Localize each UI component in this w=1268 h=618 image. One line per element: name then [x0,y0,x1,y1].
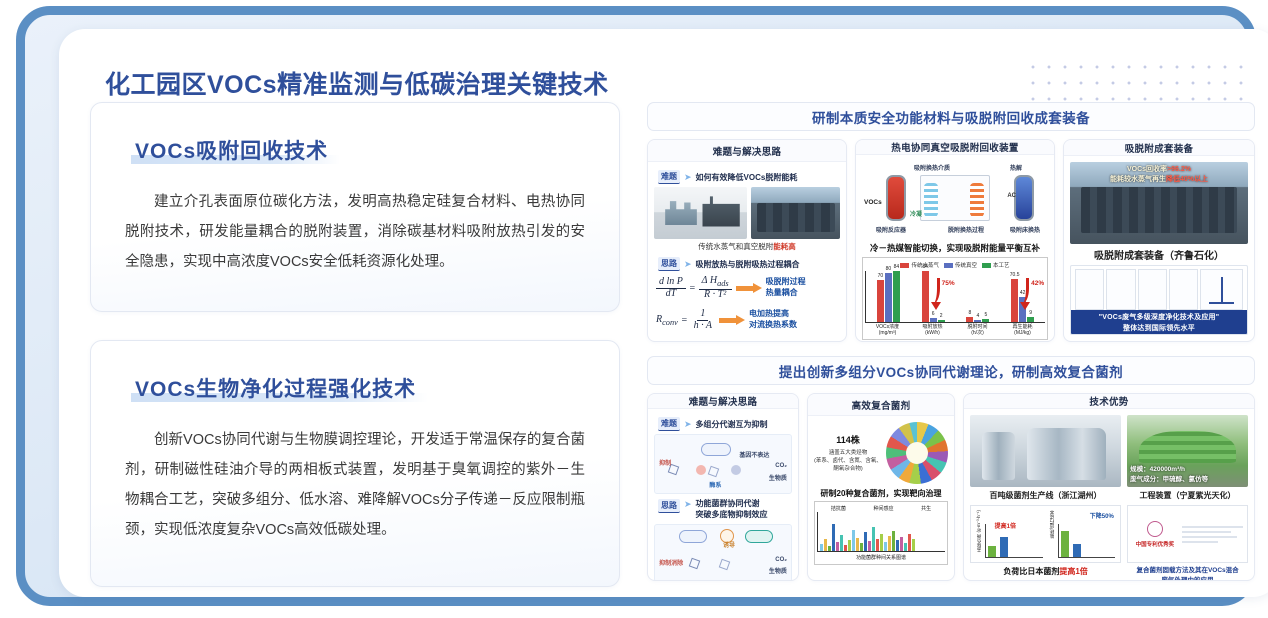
photo-caption: 工程装置（宁夏紫光天化） [1127,490,1248,501]
chart-plot-area [817,512,945,552]
left-column: VOCs吸附回收技术 建立介孔表面原位碳化方法，发明高热稳定硅复合材料、电热协同… [90,102,620,587]
bar [888,536,891,551]
panel-header: 吸脱附成套装备 [1064,140,1254,156]
bar [892,531,895,551]
bar-value-label: 70 [878,273,884,279]
figure-label: 生物质 [769,566,787,575]
panel-header: 难题与解决思路 [648,140,846,162]
caption-highlight: 提高1倍 [1059,567,1087,576]
chart-y-axis-label: 去除负荷 (g·m⁻³·h⁻¹) [976,510,982,552]
award-certificate-figure: "VOCs废气多级深度净化技术及应用" 整体达到国际领先水平 [1070,265,1248,335]
legend-item: 传统真空 [944,261,977,269]
chart-annotation: 42% [1031,280,1044,287]
photo-engineering-installation: 规模：420000m³/h 废气成分：甲硫醇、氯仿等 [1127,415,1248,487]
bar [880,534,883,551]
approach-row: 思路 ➤ 功能菌群协同代谢 突破多底物抑制效应 [658,499,792,521]
bar [856,538,859,551]
photo-production-line [970,415,1121,487]
bar: 84 [893,271,900,322]
approach-text: 吸附放热与脱附吸热过程耦合 [696,259,800,270]
x-axis-tick-label: 再生能耗 (MJ/kg) [1000,324,1045,337]
panel-header: 技术优势 [964,394,1254,409]
panel-complete-equipment-set: 吸脱附成套装备 VOCs回收率>96.2% 能耗较水蒸气再生降低40%以上 吸脱… [1063,139,1255,342]
approach-label: 思路 [658,499,680,513]
schematic-label: 吸附反应器 [876,225,906,234]
legend-item: 传统水蒸气 [900,261,939,269]
section-materials-equipment: 研制本质安全功能材料与吸脱附回收成套装备 难题与解决思路 难题 ➤ 如何有效降低… [647,102,1255,342]
approach-text: 功能菌群协同代谢 突破多底物抑制效应 [696,499,768,521]
photo-qilu-petrochemical-plant: VOCs回收率>96.2% 能耗较水蒸气再生降低40%以上 [1070,162,1248,244]
legend-swatch [982,263,991,268]
panel-body: 吸附换热介质 热解 VOCs 吸附反应器 冷凝 吸附床换热 [856,155,1054,342]
vocs-inlet-label: VOCs [864,199,882,206]
chart-x-axis-labels: VOCs浓度 (mg/m³)吸附放热 (kW/h)脱附时间 (h/次)再生能耗 … [865,324,1045,337]
panel-efficient-composite-agent: 高效复合菌剂 114株 涵盖五大类烃物 (苯系、卤代、含氮、含氧、酮氧杂合物) … [807,393,955,581]
bar: 70 [877,280,884,323]
chart-annotation: 下降50% [1090,511,1114,520]
problem-row: 难题 ➤ 多组分代谢互为抑制 [658,417,792,431]
chart-y-axis-label: 能耗/运行成本 [1049,510,1055,538]
species-relation-chart: 拮抗菌 种间感应 共生 功能菌群种间关系图谱 [814,501,948,565]
card-vocs-bio-purification: VOCs生物净化过程强化技术 创新VOCs协同代谢与生物膜调控理论，开发适于常温… [90,340,620,587]
bar-value-label: 80 [886,266,892,272]
approach-label: 思路 [658,257,680,271]
bar: 5 [982,319,989,322]
problem-text: 如何有效降低VOCs脱附能耗 [696,172,798,183]
overlay-text: 能耗较水蒸气再生 [1110,176,1166,183]
equals-sign: = [689,283,696,294]
formula-symbol: Rconv [656,314,678,327]
equals-sign: = [681,315,688,326]
panel-body: 百吨级菌剂生产线（浙江湖州） 规模：420000m³/h 废气成分：甲硫醇、氯仿… [964,409,1254,581]
certificate-page-main [1200,269,1243,310]
bar: 2 [938,320,945,322]
bar: 80 [885,273,892,322]
overlay-text: VOCs回收率 [1127,166,1167,173]
figure-label: 基因不表达 [739,450,769,459]
certificate-pages [1071,266,1247,310]
section-heading: 提出创新多组分VOCs协同代谢理论，研制高效复合菌剂 [647,356,1255,385]
schematic-label: 热解 [1010,163,1022,172]
bar-value-label: 84 [922,264,928,270]
legend-label: 传统真空 [955,261,977,269]
overlay-highlight: 降低40%以上 [1166,176,1208,183]
bar [872,527,875,551]
formula-note: 电加热提高 对流换热系数 [749,309,797,331]
photo-caption: 传统水蒸气和真空脱附能耗高 [654,241,840,252]
bar [860,543,863,551]
x-axis-tick-label: 吸附放热 (kW/h) [910,324,955,337]
x-axis-tick-label: 脱附时间 (h/次) [955,324,1000,337]
arrow-icon: ➤ [684,499,692,510]
problem-text: 多组分代谢互为抑制 [696,419,768,430]
figure-label: 抑制 [659,458,671,467]
group-label: 共生 [921,505,931,512]
approach-row: 思路 ➤ 吸附放热与脱附吸热过程耦合 [658,257,840,271]
schematic-label: 脱附换热过程 [948,225,984,234]
bar [988,546,996,557]
panel-header: 热电协同真空吸脱附回收装置 [856,140,1054,155]
formula-row-1: d ln P dT = Δ Hads R · T² [654,276,840,300]
legend-item: 本工艺 [982,261,1010,269]
clausius-clapeyron-formula: d ln P dT = Δ Hads R · T² [656,276,732,300]
certificate-page [1075,269,1104,310]
caption-text: 传统水蒸气和真空脱附 [698,242,773,251]
certificate-page [1106,269,1135,310]
desorption-reactor-cold [1014,175,1034,221]
group-label: 拮抗菌 [831,505,846,512]
bar [904,543,907,551]
certificate-page [1169,269,1198,310]
bar-value-label: 5 [984,312,987,318]
strain-description: 涵盖五大类烃物 (苯系、卤代、含氮、含氧、酮氧杂合物) [814,449,882,474]
agent-caption: 研制20种复合菌剂，实现靶向治理 [814,488,948,499]
formula-numerator: Δ Hads [699,276,732,290]
bar [844,545,847,551]
problem-label: 难题 [658,170,680,184]
orange-arrow-icon [736,284,762,293]
heat-exchange-schematic: 吸附换热介质 热解 VOCs 吸附反应器 冷凝 吸附床换热 [862,163,1048,241]
figure-label: 诱导 [723,540,735,549]
hot-coil-icon [970,183,984,217]
photo-traditional-steam-plant [654,187,747,239]
right-column: 研制本质安全功能材料与吸脱附回收成套装备 难题与解决思路 难题 ➤ 如何有效降低… [647,102,1255,595]
results-row: 去除负荷 (g·m⁻³·h⁻¹) 提高1倍 [970,505,1248,581]
bar [1073,544,1081,557]
certificate-page [1138,269,1167,310]
red-arrow-icon [1017,278,1029,304]
bar [912,539,915,551]
patent-certificate-figure: 中国专利优秀奖 [1127,505,1248,563]
page-title: 化工园区VOCs精准监测与低碳治理关键技术 [105,65,609,101]
arrow-icon: ➤ [684,259,692,270]
bar [868,541,871,551]
molecule-icon [708,466,720,478]
bar [884,542,887,551]
outer-frame: 化工园区VOCs精准监测与低碳治理关键技术 VOCs吸附回收技术 建立介孔表面原… [16,6,1256,606]
chart-bar-group: 845 [966,271,989,322]
card-title: VOCs吸附回收技术 [135,135,328,165]
bar-value-label: 9 [1029,310,1032,316]
bar [852,530,855,551]
bar [820,544,823,551]
strain-summary: 114株 涵盖五大类烃物 (苯系、卤代、含氮、含氧、酮氧杂合物) [814,422,948,484]
schematic-label: 吸附换热介质 [914,163,950,172]
bar-value-label: 6 [932,311,935,317]
panel-header: 难题与解决思路 [648,394,798,409]
figure-synergistic-metabolism: 诱导 抑制消除 CO₂ 生物质 [654,524,792,581]
bar-value-label: 4 [976,313,979,319]
chart-group-labels: 拮抗菌 种间感应 共生 [817,505,945,512]
panel-bio-problem-and-approach: 难题与解决思路 难题 ➤ 多组分代谢互为抑制 [647,393,799,581]
panel-body: 难题 ➤ 如何有效降低VOCs脱附能耗 传统水蒸气和真空脱附能耗高 [648,162,846,341]
patent-title-line: 废气外理中的应用 [1127,576,1248,581]
patent-seal-icon [1147,521,1163,537]
molecule-icon [689,558,701,570]
bar [876,539,879,551]
caption-highlight: 能耗高 [773,242,796,251]
legend-label: 本工艺 [993,261,1010,269]
section-heading: 研制本质安全功能材料与吸脱附回收成套装备 [647,102,1255,131]
panel-body: 114株 涵盖五大类烃物 (苯系、卤代、含氮、含氧、酮氧杂合物) 研制20种复合… [808,416,954,580]
overlay-text: 废气成分：甲硫醇、氯仿等 [1130,475,1245,484]
group-label: 种间感应 [873,505,893,512]
section-panels: 难题与解决思路 难题 ➤ 如何有效降低VOCs脱附能耗 [647,139,1255,342]
formula-row-2: Rconv = 1 h · A 电加热提高 对流换热系数 [654,309,840,331]
ac-power-label: AC [1007,193,1016,199]
chart-title: 功能菌群种间关系图谱 [817,554,945,561]
bar [828,546,831,551]
chart-bar-group: 70.542942% [1011,271,1034,322]
photo-overlay-caption: VOCs回收率>96.2% 能耗较水蒸气再生降低40%以上 [1070,165,1248,185]
formula-denominator: R · T² [701,290,729,301]
formula-numerator: 1 [697,309,708,321]
section-panels: 难题与解决思路 难题 ➤ 多组分代谢互为抑制 [647,393,1255,581]
card-vocs-adsorption-recovery: VOCs吸附回收技术 建立介孔表面原位碳化方法，发明高热稳定硅复合材料、电热协同… [90,102,620,312]
bar [1061,531,1069,557]
chart-legend: 传统水蒸气 传统真空 本工艺 [865,261,1045,269]
formula-denominator: dT [663,289,680,300]
slide-canvas: 化工园区VOCs精准监测与低碳治理关键技术 VOCs吸附回收技术 建立介孔表面原… [59,29,1268,597]
cold-coil-icon [924,183,938,217]
results-caption: 负荷比日本菌剂提高1倍 [970,566,1121,577]
arrow-icon: ➤ [684,419,692,430]
figure-label: 生物质 [769,473,787,482]
molecule-icon [719,559,731,571]
figure-metabolic-inhibition: 抑制 基因不表达 CO₂ 生物质 酶系 [654,434,792,494]
bar [900,537,903,551]
overlay-text: 规模：420000m³/h [1130,465,1245,474]
bar [824,539,827,551]
figure-label: CO₂ [775,557,787,563]
legend-swatch [900,263,909,268]
bar [864,532,867,551]
bar-value-label: 2 [940,313,943,319]
panel-problem-and-approach: 难题与解决思路 难题 ➤ 如何有效降低VOCs脱附能耗 [647,139,847,342]
red-arrow-icon [928,278,940,304]
formula-numerator: d ln P [656,277,686,289]
patent-badge: 中国专利优秀奖 [1136,540,1175,548]
bar [908,534,911,551]
chart-plot-area: 708084846275%84570.542942% [865,271,1045,323]
caption-text: 负荷比日本菌剂 [1003,567,1059,576]
photo-row: 百吨级菌剂生产线（浙江湖州） 规模：420000m³/h 废气成分：甲硫醇、氯仿… [970,415,1248,501]
energy-balance-bar-chart: 传统水蒸气 传统真空 本工艺 708084846275%84570.542942… [862,257,1048,340]
enzyme-icon [696,465,706,475]
patent-title-line: 复合菌剂固载方法及其在VOCs混合 [1127,566,1248,576]
section-bio-agents: 提出创新多组分VOCs协同代谢理论，研制高效复合菌剂 难题与解决思路 难题 ➤ … [647,356,1255,581]
schematic-label: 冷凝 [910,209,922,218]
panel-header: 高效复合菌剂 [808,394,954,416]
x-axis-tick-label: VOCs浓度 (mg/m³) [865,324,910,337]
photo-caption: 百吨级菌剂生产线（浙江湖州） [970,490,1121,501]
problem-row: 难题 ➤ 如何有效降低VOCs脱附能耗 [658,170,840,184]
patent-caption: 复合菌剂固载方法及其在VOCs混合 废气外理中的应用 获2023中国专利优秀奖 [1127,566,1248,581]
photo-vacuum-desorption-unit [751,187,840,239]
card-body-text: 建立介孔表面原位碳化方法，发明高热稳定硅复合材料、电热协同脱附技术，研发能量耦合… [121,187,589,277]
bar [840,535,843,551]
panel-thermoelectric-vacuum-device: 热电协同真空吸脱附回收装置 吸附换热介质 热解 VOCs [855,139,1055,342]
bar [896,540,899,551]
chart-annotation: 75% [942,280,955,287]
bar: 9 [1027,317,1034,322]
photo-caption: 吸脱附成套装备（齐鲁石化） [1070,247,1248,262]
award-banner: "VOCs废气多级深度净化技术及应用" 整体达到国际领先水平 [1071,310,1247,335]
award-subtitle: 整体达到国际领先水平 [1073,324,1245,335]
bacterium-icon [745,530,773,543]
chart-bar-group: 708084 [877,271,900,322]
photo-overlay-caption: 规模：420000m³/h 废气成分：甲硫醇、氯仿等 [1130,465,1245,484]
bar: 6 [930,318,937,322]
panel-technical-advantages: 技术优势 百吨级菌剂生产线（浙江湖州） 规 [963,393,1255,581]
schematic-label: 吸附床换热 [1010,225,1040,234]
convective-resistance-formula: Rconv = 1 h · A [656,309,715,331]
equipment-photo-pair [654,187,840,239]
enzyme-icon [731,465,741,475]
bar: 8 [966,317,973,322]
formula-note: 吸脱附过程 热量耦合 [766,277,806,299]
figure-label: 抑制消除 [659,558,683,567]
award-title: "VOCs废气多级深度净化技术及应用" [1073,313,1245,324]
figure-label: CO₂ [775,463,787,469]
card-body-text: 创新VOCs协同代谢与生物膜调控理论，开发适于常温保存的复合菌剂，研制磁性硅油介… [121,425,589,545]
bar-value-label: 8 [968,310,971,316]
legend-swatch [944,263,953,268]
schematic-caption: 冷－热媒智能切换，实现吸脱附能量平衡互补 [862,242,1048,254]
card-title: VOCs生物净化过程强化技术 [135,373,416,403]
chart-bar-group: 846275% [922,271,945,322]
chart-annotation: 提高1倍 [995,521,1016,530]
bar [836,542,839,551]
bar [848,540,851,551]
bar [1000,537,1008,557]
strain-distribution-radial-chart [886,422,948,484]
overlay-highlight: >96.2% [1167,166,1191,173]
panel-body: VOCs回收率>96.2% 能耗较水蒸气再生降低40%以上 吸脱附成套装备（齐鲁… [1064,156,1254,341]
bacterium-icon [679,530,707,543]
performance-charts: 去除负荷 (g·m⁻³·h⁻¹) 提高1倍 [970,505,1121,563]
figure-label: 酶系 [709,480,721,489]
orange-arrow-icon [719,316,745,325]
bar-value-label: 84 [894,264,900,270]
patent-doc-lines [1182,510,1243,558]
panel-body: 难题 ➤ 多组分代谢互为抑制 抑制 基因 [648,409,798,581]
arrow-icon: ➤ [684,172,692,183]
problem-label: 难题 [658,417,680,431]
strain-count: 114株 [814,433,882,446]
chart-plot-area [1058,524,1116,558]
adsorption-reactor-hot [886,175,906,221]
bar [832,524,835,551]
bacterium-icon [701,443,731,456]
formula-denominator: h · A [691,321,715,332]
bar: 4 [974,320,981,322]
